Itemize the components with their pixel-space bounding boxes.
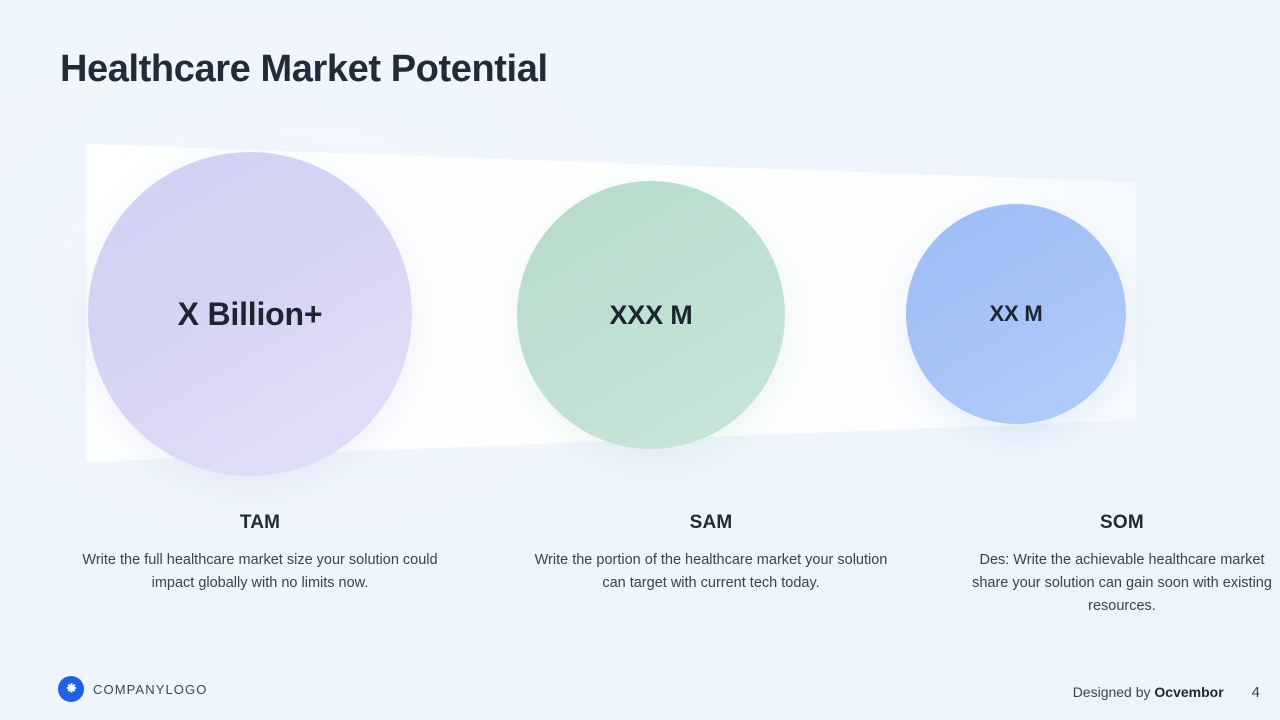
medical-cross-logo-icon	[58, 676, 84, 702]
designed-by-prefix: Designed by	[1073, 684, 1155, 700]
bubble-som[interactable]: XX M	[906, 204, 1126, 424]
caption-tam: TAM Write the full healthcare market siz…	[70, 512, 450, 632]
caption-sam-title: SAM	[521, 512, 901, 534]
caption-tam-text: Write the full healthcare market size yo…	[70, 549, 450, 595]
bubble-sam[interactable]: XXX M	[517, 181, 785, 449]
designed-by: Designed by Ocvembor	[1073, 684, 1224, 700]
caption-som-title: SOM	[972, 512, 1272, 534]
bubble-tam[interactable]: X Billion+	[88, 152, 412, 476]
caption-som-text: Des: Write the achievable healthcare mar…	[972, 549, 1272, 618]
footer-right: Designed by Ocvembor 4	[1073, 684, 1260, 701]
caption-sam: SAM Write the portion of the healthcare …	[521, 512, 901, 632]
caption-group: TAM Write the full healthcare market siz…	[0, 512, 1280, 632]
bubble-som-value: XX M	[990, 301, 1043, 327]
caption-sam-text: Write the portion of the healthcare mark…	[521, 549, 901, 595]
page-number: 4	[1252, 684, 1260, 701]
footer-logo-text: COMPANYLOGO	[93, 682, 207, 697]
caption-som: SOM Des: Write the achievable healthcare…	[972, 512, 1272, 632]
bubble-sam-value: XXX M	[609, 300, 692, 331]
bubble-tam-value: X Billion+	[178, 296, 323, 333]
footer-logo[interactable]: COMPANYLOGO	[58, 676, 207, 702]
caption-tam-title: TAM	[70, 512, 450, 534]
designed-by-brand: Ocvembor	[1154, 684, 1223, 700]
